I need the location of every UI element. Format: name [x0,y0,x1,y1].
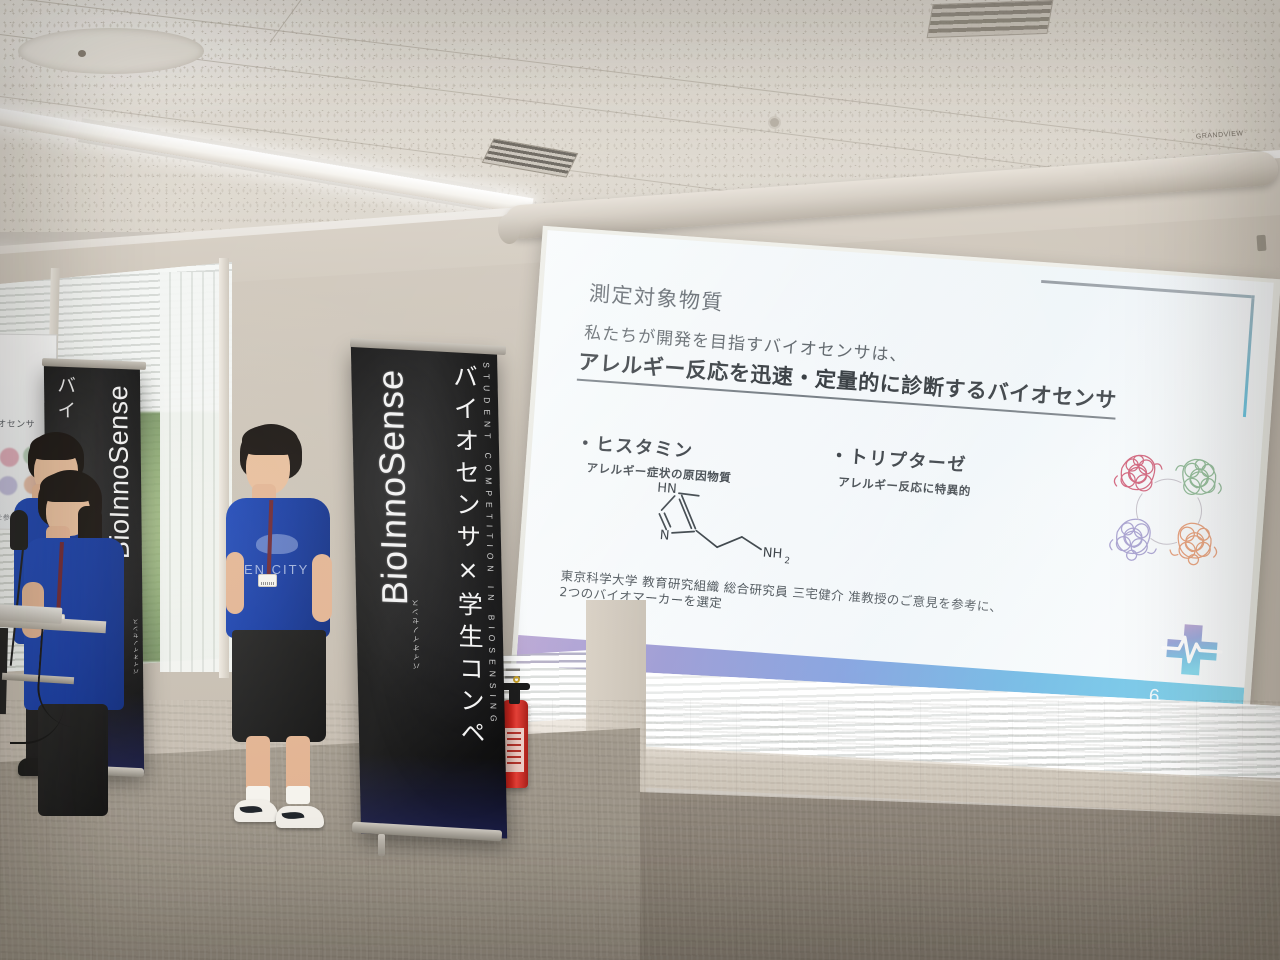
banner-logo-text: BioInnoSense [369,368,416,606]
presenter-c-shoe-right [276,806,324,828]
svg-text:NH: NH [762,546,783,562]
banner-bioinnosense-main: BioInnoSense バイオイノセンス バイオセンサ×学生コンペ STUDE… [351,346,507,839]
presenter-a-hair-top [30,434,80,460]
fire-extinguisher-neck [509,688,520,704]
presentation-room-photo: オセンサ を参考に、 GRANDVIEW 測定対象物質 私たちが開発を目指すバイ… [0,0,1280,960]
histamine-structure-diagram: HN N NH 2 [644,478,800,575]
banner-logo-wrap: BioInnoSense [367,368,422,810]
presenter-c-shorts [232,630,326,742]
secondary-display-text: オセンサ [0,417,35,431]
presenter-c-shoe-left [234,800,278,822]
banner-base-leg [378,834,385,856]
svg-text:2: 2 [784,556,790,566]
svg-text:N: N [659,528,670,544]
presenter-center: EN CITY [228,424,332,836]
medical-cross-ecg-logo [1159,620,1225,680]
presenter-c-arm-left [226,552,244,614]
fire-extinguisher-handle [500,683,530,690]
presenter-laptop[interactable] [0,604,62,624]
nike-swoosh-icon [282,811,305,821]
svg-text:HN: HN [657,481,678,497]
presenter-c-sock-right [286,786,310,804]
bullet-tryptase-caption: アレルギー反応に特異的 [838,474,972,500]
sprinkler-head-icon [770,118,779,127]
ceiling-air-vent-far [927,0,1054,38]
fire-extinguisher-pin [513,676,520,683]
presenter-c-badge [258,574,277,587]
handheld-microphone[interactable] [10,510,28,550]
fire-extinguisher-label [505,728,524,772]
ceiling-speaker [18,28,204,74]
presenter-b-hair-top [40,472,96,502]
presenter-c-shirt-text: EN CITY [244,562,318,578]
presenter-c-arm-right [312,554,332,622]
bullet-histamine: ・ヒスタミン [575,429,694,463]
slide-title: 測定対象物質 [588,277,725,317]
carpet-texture [0,700,1280,960]
banner-logo-subtext: バイオイノセンス [411,597,423,669]
tryptase-tetramer-diagram [1088,430,1248,590]
presenter-c-shirt-logo [256,534,298,554]
nike-swoosh-icon [240,805,263,815]
bullet-tryptase: ・トリプターゼ [829,441,968,477]
presenter-c-hair-top [242,425,298,455]
